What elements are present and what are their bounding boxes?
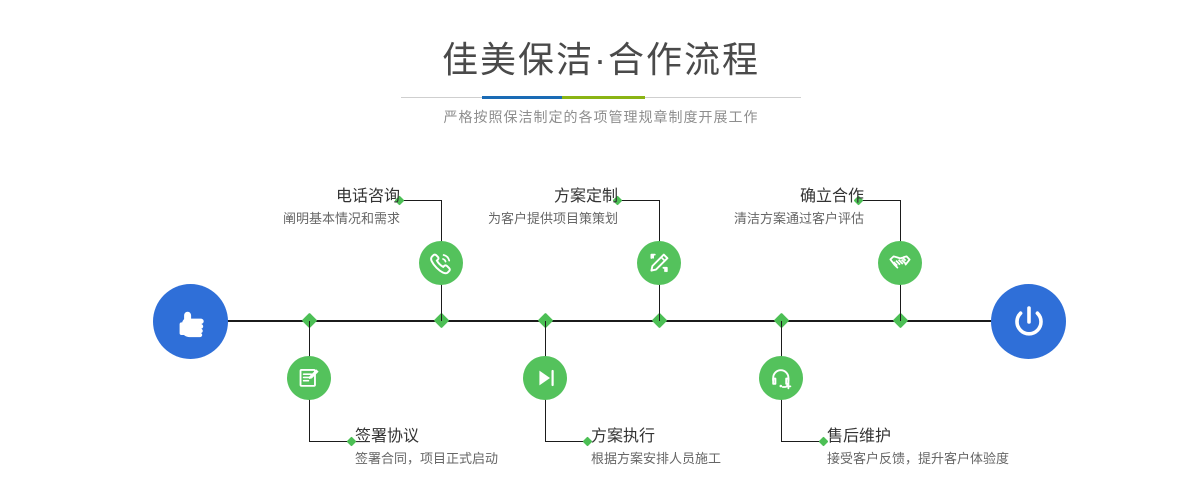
divider-segment-green [562, 96, 645, 99]
label-step-3: 方案定制 为客户提供项目策策划 [488, 186, 618, 229]
connector-step-3-horizontal [617, 200, 660, 201]
title-divider [401, 96, 801, 100]
label-desc-step-6: 清洁方案通过客户评估 [734, 209, 864, 229]
label-title-step-6: 确立合作 [734, 186, 864, 208]
node-icon-step-2 [287, 356, 331, 400]
node-icon-step-1 [419, 241, 463, 285]
label-step-1: 电话咨询 阐明基本情况和需求 [283, 186, 400, 229]
label-step-6: 确立合作 清洁方案通过客户评估 [734, 186, 864, 229]
label-title-step-4: 方案执行 [591, 426, 721, 448]
label-title-step-1: 电话咨询 [283, 186, 400, 208]
divider-segment-blue [482, 96, 562, 99]
timeline-start-badge [153, 284, 228, 359]
label-step-2: 签署协议 签署合同，项目正式启动 [355, 426, 498, 469]
label-step-4: 方案执行 根据方案安排人员施工 [591, 426, 721, 469]
connector-step-6-horizontal [858, 200, 901, 201]
label-desc-step-2: 签署合同，项目正式启动 [355, 449, 498, 469]
label-desc-step-5: 接受客户反馈，提升客户体验度 [827, 449, 1009, 469]
flow-diagram-canvas: 佳美保洁·合作流程 严格按照保洁制定的各项管理规章制度开展工作 [0, 0, 1202, 502]
label-title-step-2: 签署协议 [355, 426, 498, 448]
node-icon-step-5 [759, 356, 803, 400]
page-subtitle: 严格按照保洁制定的各项管理规章制度开展工作 [0, 106, 1202, 128]
node-icon-step-3 [637, 241, 681, 285]
node-icon-step-6 [878, 241, 922, 285]
label-desc-step-4: 根据方案安排人员施工 [591, 449, 721, 469]
connector-step-1-horizontal [399, 200, 442, 201]
label-step-5: 售后维护 接受客户反馈，提升客户体验度 [827, 426, 1009, 469]
label-desc-step-1: 阐明基本情况和需求 [283, 209, 400, 229]
label-title-step-3: 方案定制 [488, 186, 618, 208]
label-title-step-5: 售后维护 [827, 426, 1009, 448]
page-title: 佳美保洁·合作流程 [0, 38, 1202, 82]
timeline-end-badge [991, 284, 1066, 359]
label-desc-step-3: 为客户提供项目策策划 [488, 209, 618, 229]
node-icon-step-4 [523, 356, 567, 400]
